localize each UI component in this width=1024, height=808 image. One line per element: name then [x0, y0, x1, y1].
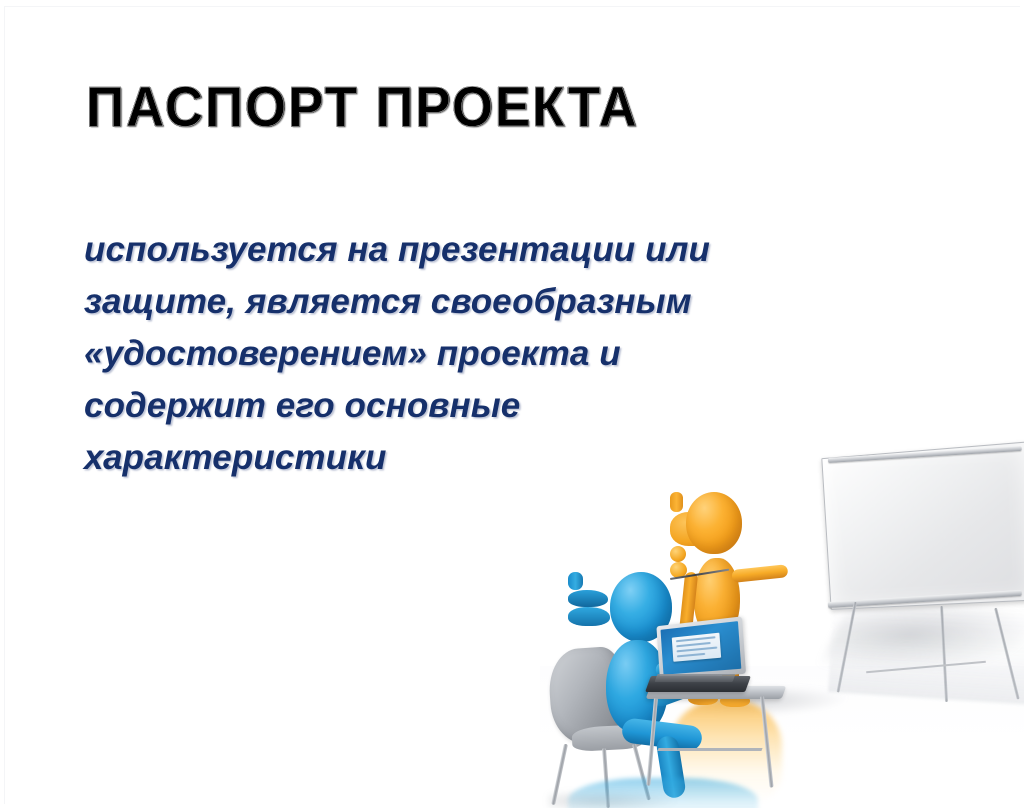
presentation-illustration	[540, 448, 1024, 808]
body-line: содержит его основные	[84, 380, 924, 432]
desk-crossbar	[657, 748, 762, 751]
laptop-keyboard	[655, 674, 736, 682]
seated-foot	[568, 590, 608, 607]
page-title: ПАСПОРТ ПРОЕКТА	[86, 78, 639, 138]
screen-document-window	[671, 633, 721, 662]
desk	[648, 686, 798, 808]
chair-leg	[551, 744, 567, 805]
laptop-screen	[660, 621, 741, 675]
slide-canvas: ПАСПОРТ ПРОЕКТА используется на презента…	[0, 0, 1024, 808]
desk-leg	[760, 696, 774, 788]
whiteboard-easel	[812, 452, 1024, 752]
presenter-left-hand	[670, 546, 686, 562]
body-line: защите, является своеобразным	[84, 276, 924, 328]
presenter-head	[686, 492, 742, 554]
seated-foot	[568, 607, 610, 626]
laptop	[644, 626, 752, 698]
desk-leg	[646, 698, 658, 786]
body-line: «удостоверением» проекта и	[84, 328, 924, 380]
body-text-block: используется на презентации или защите, …	[84, 224, 924, 484]
body-line: используется на презентации или	[84, 224, 924, 276]
whiteboard-reflection	[828, 584, 1024, 705]
laptop-lid	[656, 616, 746, 680]
seated-neck	[568, 572, 583, 590]
presenter-neck	[670, 492, 683, 512]
